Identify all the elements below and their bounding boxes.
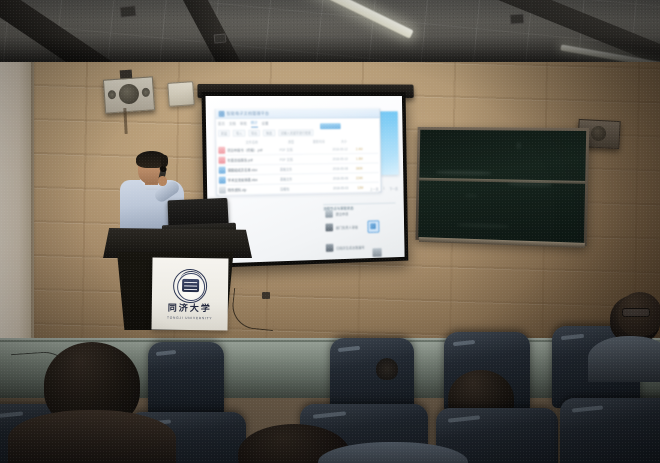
wall-speaker-left: [103, 76, 155, 113]
lecture-hall-photo: 智能电子文档管理平台 首页 文档 审批 统计 设置 新建 导入 导出: [0, 0, 660, 463]
cell-name: 课题组成员名单.xlsx: [227, 167, 278, 173]
user-icon: [325, 223, 333, 231]
archive-file-icon: [219, 187, 226, 194]
cell-size: 2.4M: [349, 147, 362, 151]
cell-type: 表格文件: [280, 176, 320, 182]
cell-name: 项目申报书（终稿）.pdf: [227, 147, 278, 153]
glasses-icon: [622, 308, 650, 317]
flow-node-item[interactable]: 归档并生成台账编号: [326, 243, 365, 252]
flow-node-label: 提交申请: [336, 211, 349, 216]
cell-size: 360K: [350, 166, 363, 170]
chalk-smudge: [436, 170, 492, 175]
flow-node-item[interactable]: 提交申请: [325, 209, 348, 217]
tab-settings[interactable]: 设置: [261, 121, 268, 126]
cell-name: 附件资料.zip: [228, 187, 279, 193]
column-header-name: 文件名称: [246, 139, 289, 144]
selected-node-marker[interactable]: [367, 220, 379, 233]
auditorium-seat: [148, 342, 224, 416]
file-icon: [325, 210, 333, 218]
cell-name: 年度总结报告.pdf: [227, 157, 278, 163]
pdf-file-icon: [218, 147, 225, 154]
pager-page-1[interactable]: 1: [383, 186, 385, 191]
cell-date: 2018-05-06: [322, 176, 348, 180]
cell-date: 2018-05-03: [322, 186, 348, 190]
presenter-hand: [158, 176, 167, 186]
ceiling-vent: [119, 5, 136, 18]
ceiling-vent: [510, 14, 525, 25]
chalk-smudge: [516, 142, 521, 149]
spreadsheet-file-icon: [219, 177, 226, 184]
toolbar-new-button[interactable]: 新建: [218, 130, 230, 137]
tab-approval[interactable]: 审批: [240, 121, 247, 126]
wall-control-box: [167, 81, 195, 107]
spreadsheet-file-icon: [219, 167, 226, 174]
app-title-bar: 智能电子文档管理平台: [216, 109, 380, 119]
archive-icon: [326, 244, 334, 252]
cell-type: 表格文件: [280, 166, 320, 172]
chalkboard-surface: [418, 130, 586, 243]
cell-type: 压缩包: [280, 186, 320, 192]
speaker-tweeter-icon: [108, 90, 117, 100]
speaker-tweeter-icon: [142, 88, 151, 98]
app-toolbar: 新建 导入 导出 筛选 请输入关键字进行检索: [218, 129, 378, 137]
chalkboard: [415, 127, 589, 246]
auditorium-seat: [560, 398, 660, 463]
cell-date: 2018-05-12: [321, 147, 347, 151]
column-header-date: 更新时间: [313, 138, 341, 143]
app-window-title: 智能电子文档管理平台: [226, 110, 269, 116]
flow-node-item[interactable]: 部门负责人审核: [325, 223, 358, 232]
tab-statistics[interactable]: 统计: [251, 120, 258, 127]
cell-type: PDF 文档: [280, 156, 320, 161]
toolbar-export-button[interactable]: 导出: [248, 130, 260, 137]
audience: [0, 300, 660, 463]
tab-home[interactable]: 首页: [218, 121, 225, 126]
app-query-button[interactable]: [320, 123, 341, 129]
chalk-smudge: [508, 181, 552, 187]
app-tab-bar: 首页 文档 审批 统计 设置: [218, 119, 378, 128]
tab-documents[interactable]: 文档: [229, 121, 236, 126]
flow-end-marker: [372, 248, 381, 257]
audience-head: [376, 358, 398, 380]
cell-date: 2018-05-10: [321, 157, 347, 161]
pager-next[interactable]: 下一页: [389, 186, 398, 191]
chalkboard-frame: [415, 127, 589, 246]
audience-shoulder: [8, 410, 176, 463]
column-header-size: 大小: [341, 138, 362, 143]
audience-shoulder: [588, 336, 660, 382]
pagination[interactable]: 上一页 1 下一页: [356, 186, 398, 192]
pager-prev[interactable]: 上一页: [370, 187, 379, 192]
cell-size: 1.8M: [350, 156, 363, 160]
projected-app-window: 智能电子文档管理平台 首页 文档 审批 统计 设置 新建 导入 导出: [215, 109, 382, 196]
column-header-type: 类型: [288, 139, 313, 144]
cell-size: 224K: [350, 176, 363, 180]
flow-node-label: 归档并生成台账编号: [336, 244, 364, 250]
tongji-university-seal-icon: [173, 268, 207, 302]
seal-emblem: [182, 279, 199, 292]
toolbar-filter-button[interactable]: 筛选: [263, 129, 275, 136]
toolbar-import-button[interactable]: 导入: [233, 130, 245, 137]
speaker-cone-icon: [118, 83, 139, 104]
chalkboard-divider: [419, 178, 585, 184]
cell-date: 2018-05-08: [322, 166, 348, 170]
chalk-smudge: [465, 194, 478, 197]
speaker-cone-icon: [591, 126, 607, 142]
chalk-smudge: [457, 223, 509, 229]
cell-name: 学术交流安排表.xlsx: [228, 177, 279, 183]
app-logo-icon: [219, 110, 225, 116]
pdf-file-icon: [218, 157, 225, 164]
search-hint-text[interactable]: 请输入关键字进行检索: [278, 129, 314, 136]
cell-type: PDF 文档: [279, 147, 319, 152]
flow-node-label: 部门负责人审核: [336, 224, 358, 229]
